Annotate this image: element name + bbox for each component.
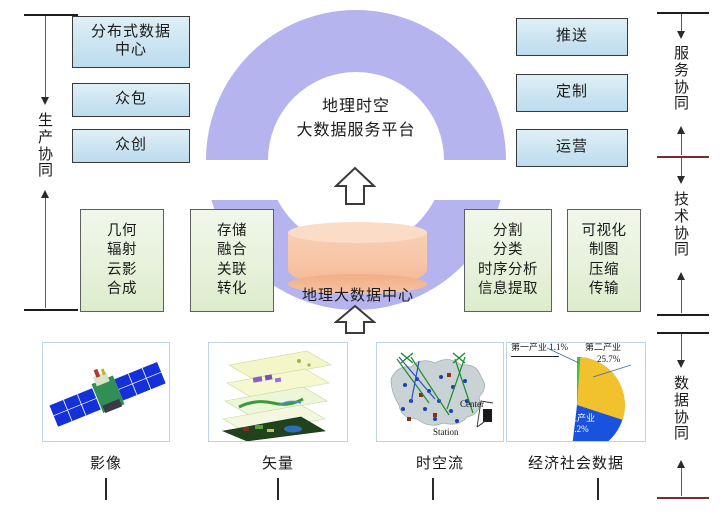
pie-label-secondary-value: 25.7% — [597, 355, 620, 365]
right-axis3-top-rule — [657, 332, 709, 334]
right-axis3-down-line — [681, 334, 682, 362]
panel-vector[interactable] — [208, 342, 348, 442]
tick-imagery — [105, 478, 107, 500]
right-axis3-up-arrowhead — [677, 460, 685, 468]
box-crowd-innovation[interactable]: 众创 — [72, 129, 190, 163]
box-geometry-radiation[interactable]: 几何 辐射 云影 合成 — [80, 209, 164, 312]
box-customize[interactable]: 定制 — [516, 74, 628, 112]
flow-map-station-label: Station — [433, 427, 459, 437]
box-storage-fusion[interactable]: 存储 融合 关联 转化 — [190, 209, 274, 312]
pie-label-secondary-industry: 第二产业 — [585, 343, 621, 353]
flow-map-center-label: Center — [460, 399, 484, 409]
label-technology-collaboration: 技 术 协 同 — [667, 192, 697, 259]
panel-socioeconomic-data[interactable]: 第三产业 73.2% 第一产业 1.1% 第二产业 25.7% — [506, 342, 646, 442]
left-axis-down-line — [45, 16, 46, 99]
svg-text:第三产业: 第三产业 — [559, 412, 595, 423]
right-axis1-bottom-rule — [657, 156, 709, 158]
arrow-up-to-platform — [334, 166, 376, 206]
left-axis-up-line — [45, 198, 46, 308]
label-data-collaboration: 数 据 协 同 — [667, 376, 697, 443]
left-axis-top-rule — [24, 14, 78, 16]
tick-socioeconomic-data — [597, 478, 599, 500]
arrow-up-to-datacenter — [334, 304, 376, 334]
satellite-image — [43, 343, 170, 442]
right-axis1-up-line — [681, 134, 682, 155]
caption-spatiotemporal-flow: 时空流 — [376, 452, 504, 473]
box-crowdsourcing[interactable]: 众包 — [72, 83, 190, 117]
caption-socioeconomic-data: 经济社会数据 — [498, 452, 654, 473]
right-axis3-bottom-rule — [657, 497, 709, 499]
pie-label-primary-industry: 第一产业 1.1% — [511, 343, 568, 353]
box-operate[interactable]: 运营 — [516, 129, 628, 167]
tick-vector — [277, 478, 279, 500]
arch-title: 地理时空 大数据服务平台 — [256, 95, 456, 143]
caption-vector: 矢量 — [208, 452, 348, 473]
tick-spatiotemporal-flow — [432, 478, 434, 500]
panel-imagery[interactable] — [42, 342, 170, 442]
box-push[interactable]: 推送 — [516, 18, 628, 56]
box-segmentation-analysis[interactable]: 分割 分类 时序分析 信息提取 — [464, 209, 552, 312]
box-visualization-mapping[interactable]: 可视化 制图 压缩 传输 — [567, 209, 641, 312]
label-service-collaboration: 服 务 协 同 — [667, 46, 697, 113]
right-axis1-up-arrowhead — [677, 126, 685, 134]
right-axis2-up-line — [681, 280, 682, 313]
label-production-collaboration: 生 产 协 同 — [31, 113, 61, 180]
right-axis2-down-arrowhead — [677, 176, 685, 184]
cylinder-top — [288, 222, 427, 243]
right-axis1-top-rule — [657, 12, 709, 14]
left-axis-down-arrowhead — [41, 97, 49, 105]
right-axis3-up-line — [681, 468, 682, 496]
svg-text:73.2%: 73.2% — [565, 424, 589, 434]
geo-bigdata-center-label: 地理大数据中心 — [268, 284, 448, 305]
right-axis3-down-arrowhead — [677, 360, 685, 368]
right-axis2-up-arrowhead — [677, 272, 685, 280]
caption-imagery: 影像 — [42, 452, 170, 473]
right-axis1-down-arrowhead — [677, 31, 685, 39]
panel-spatiotemporal-flow[interactable]: Center Station — [376, 342, 504, 442]
right-axis2-bottom-rule — [657, 314, 709, 316]
pie-label-primary-underline — [511, 356, 559, 357]
left-axis-bottom-rule — [24, 309, 78, 311]
right-axis2-down-line — [681, 158, 682, 178]
map-layers-image — [209, 343, 348, 442]
left-axis-up-arrowhead — [41, 190, 49, 198]
box-distributed-data-center[interactable]: 分布式数据 中心 — [72, 16, 190, 68]
industry-pie-chart: 第三产业 73.2% — [507, 343, 646, 442]
